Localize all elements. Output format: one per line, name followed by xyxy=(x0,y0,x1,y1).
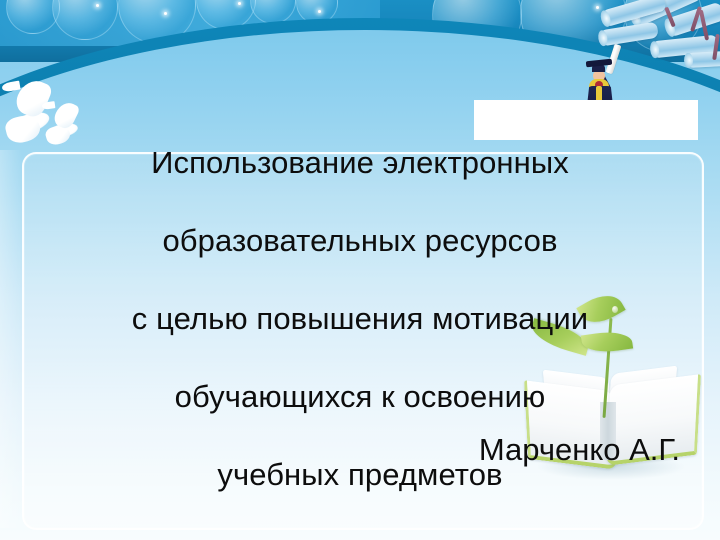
title-line-3: с целью повышения мотивации xyxy=(40,299,680,338)
sparkle-icon xyxy=(318,10,321,13)
sparkle-icon xyxy=(596,6,599,9)
title-line-2: образовательных ресурсов xyxy=(40,221,680,260)
title-line-4: обучающихся к освоению xyxy=(40,377,680,416)
author-name: Марченко А.Г. xyxy=(40,430,702,470)
presentation-slide: Использование электронных образовательны… xyxy=(0,0,720,540)
title-line-1: Использование электронных xyxy=(40,143,680,182)
sparkle-icon xyxy=(238,2,241,5)
dove-tail xyxy=(1,81,20,93)
sparkle-icon xyxy=(164,12,167,15)
sparkle-icon xyxy=(96,4,99,7)
